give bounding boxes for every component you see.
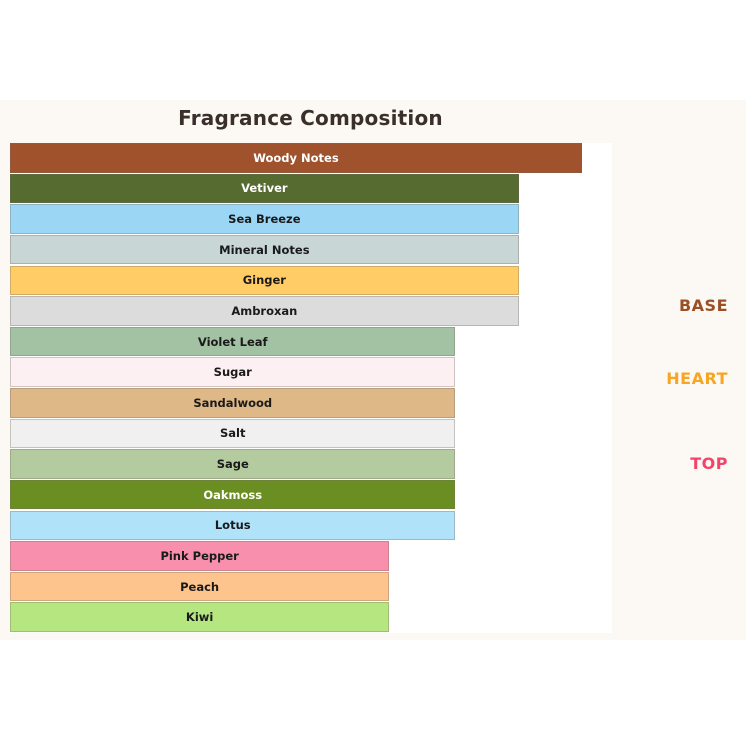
bar-row: Sea Breeze	[10, 204, 612, 235]
bar[interactable]	[10, 357, 455, 387]
bar-row: Ginger	[10, 266, 612, 297]
bar-row: Kiwi	[10, 602, 612, 633]
plot-area: Woody NotesVetiverSea BreezeMineral Note…	[10, 143, 612, 633]
stage-label-top: TOP	[690, 454, 728, 473]
bar[interactable]	[10, 296, 519, 326]
bar-row: Vetiver	[10, 174, 612, 205]
bar[interactable]	[10, 266, 519, 296]
figure-canvas: Fragrance Composition Woody NotesVetiver…	[0, 100, 746, 640]
stage-label-base: BASE	[679, 296, 728, 315]
page-title: Fragrance Composition	[0, 106, 621, 130]
bar[interactable]	[10, 235, 519, 265]
screenshot-root: Fragrance Composition Woody NotesVetiver…	[0, 0, 746, 746]
bar[interactable]	[10, 572, 389, 602]
bar-row: Sage	[10, 449, 612, 480]
bar[interactable]	[10, 204, 519, 234]
bar-row: Sugar	[10, 357, 612, 388]
bar[interactable]	[10, 388, 455, 418]
bar-row: Lotus	[10, 511, 612, 542]
bar[interactable]	[10, 541, 389, 571]
bar-row: Woody Notes	[10, 143, 612, 174]
bar[interactable]	[10, 143, 582, 173]
bar-row: Ambroxan	[10, 296, 612, 327]
bar[interactable]	[10, 511, 455, 541]
bar-row: Sandalwood	[10, 388, 612, 419]
bar[interactable]	[10, 327, 455, 357]
bar[interactable]	[10, 174, 519, 204]
bar-row: Violet Leaf	[10, 327, 612, 358]
bar-row: Salt	[10, 419, 612, 450]
bar-row: Mineral Notes	[10, 235, 612, 266]
stage-label-heart: HEART	[666, 369, 728, 388]
bar[interactable]	[10, 449, 455, 479]
bar-row: Oakmoss	[10, 480, 612, 511]
bar[interactable]	[10, 419, 455, 449]
bar-row: Peach	[10, 572, 612, 603]
bar-row: Pink Pepper	[10, 541, 612, 572]
bar[interactable]	[10, 602, 389, 632]
bar[interactable]	[10, 480, 455, 510]
